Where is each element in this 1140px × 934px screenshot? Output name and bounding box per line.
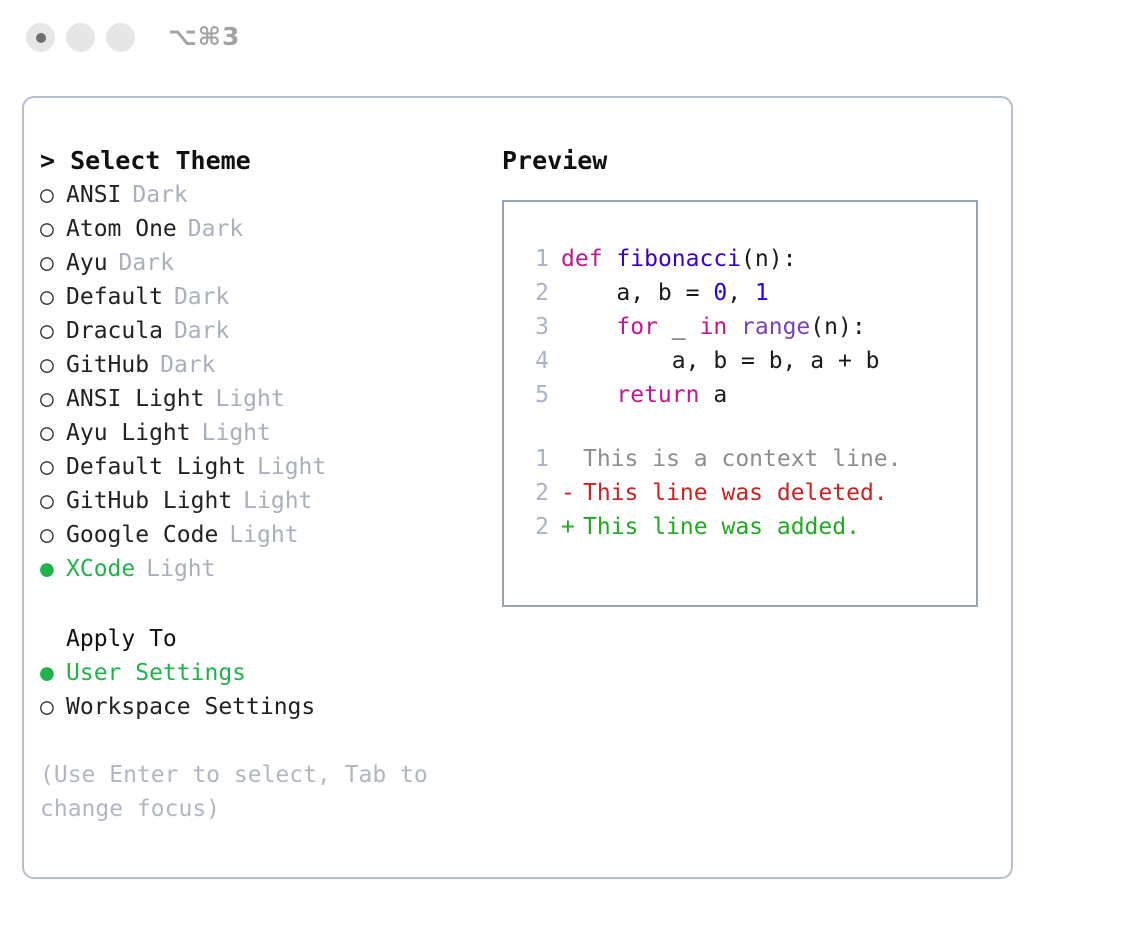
code-token-kw: return — [616, 382, 699, 408]
code-token-plain: (n): — [810, 314, 865, 340]
radio-unselected-icon: ○ — [40, 382, 66, 416]
line-number: 2 — [519, 276, 549, 310]
preview-title: Preview — [502, 144, 992, 178]
diff-line-text: This line was added. — [583, 510, 860, 544]
apply-to-title: Apply To — [40, 622, 480, 656]
theme-option-github[interactable]: ○GitHubDark — [40, 348, 480, 382]
code-token-plain: (n): — [741, 246, 796, 272]
theme-option-label: Google Code — [66, 518, 218, 552]
code-line-text: a, b = b, a + b — [561, 344, 880, 378]
theme-option-label: Default Light — [66, 450, 246, 484]
apply-to-option-workspace-settings[interactable]: ○Workspace Settings — [40, 690, 480, 724]
radio-unselected-icon: ○ — [40, 690, 66, 724]
theme-option-tag: Dark — [160, 348, 215, 382]
theme-option-ayu-light[interactable]: ○Ayu LightLight — [40, 416, 480, 450]
theme-option-label: Default — [66, 280, 163, 314]
line-number: 1 — [519, 442, 549, 476]
app-window: ⌥⌘3 > Select Theme ○ANSIDark○Atom OneDar… — [0, 0, 1140, 934]
code-token-num: 0 — [713, 280, 727, 306]
apply-to-option-label: Workspace Settings — [66, 690, 315, 724]
theme-option-default[interactable]: ○DefaultDark — [40, 280, 480, 314]
theme-option-tag: Light — [202, 416, 271, 450]
code-token-num: 1 — [755, 280, 769, 306]
theme-option-default-light[interactable]: ○Default LightLight — [40, 450, 480, 484]
diff-line: 2+This line was added. — [504, 510, 976, 544]
code-token-kw: for — [616, 314, 658, 340]
code-line-text: return a — [561, 378, 727, 412]
radio-selected-icon: ● — [40, 552, 66, 586]
theme-list: ○ANSIDark○Atom OneDark○AyuDark○DefaultDa… — [40, 178, 480, 586]
code-token-plain: , — [727, 280, 755, 306]
code-token-fn: fibonacci — [616, 246, 741, 272]
theme-selector-column: > Select Theme ○ANSIDark○Atom OneDark○Ay… — [40, 144, 480, 826]
theme-option-atom-one[interactable]: ○Atom OneDark — [40, 212, 480, 246]
select-theme-header: > Select Theme — [40, 144, 480, 178]
line-number: 2 — [519, 510, 549, 544]
diff-line-text: This is a context line. — [583, 442, 902, 476]
line-number: 2 — [519, 476, 549, 510]
keyboard-hint-text: (Use Enter to select, Tab to change focu… — [40, 758, 450, 826]
theme-option-dracula[interactable]: ○DraculaDark — [40, 314, 480, 348]
code-line-text: def fibonacci(n): — [561, 242, 796, 276]
line-number: 4 — [519, 344, 549, 378]
theme-option-google-code[interactable]: ○Google CodeLight — [40, 518, 480, 552]
spacer — [40, 724, 480, 758]
diff-line-text: This line was deleted. — [583, 476, 888, 510]
theme-option-tag: Light — [243, 484, 312, 518]
code-line: 1def fibonacci(n): — [504, 242, 976, 276]
code-token-plain — [561, 382, 616, 408]
radio-unselected-icon: ○ — [40, 246, 66, 280]
code-token-plain: _ — [658, 314, 700, 340]
theme-option-label: ANSI Light — [66, 382, 204, 416]
window-close-icon[interactable] — [26, 23, 55, 52]
code-token-plain — [603, 246, 617, 272]
code-token-kw: in — [699, 314, 727, 340]
title-bar: ⌥⌘3 — [0, 0, 1140, 78]
theme-option-tag: Light — [229, 518, 298, 552]
radio-unselected-icon: ○ — [40, 314, 66, 348]
spacer — [504, 412, 976, 442]
theme-option-label: Ayu — [66, 246, 108, 280]
code-token-builtin: range — [741, 314, 810, 340]
diff-sample: 1 This is a context line.2-This line was… — [504, 442, 976, 544]
traffic-light-group — [26, 23, 135, 52]
theme-option-tag: Dark — [174, 280, 229, 314]
diff-marker-add: + — [561, 510, 583, 544]
theme-option-xcode[interactable]: ●XCodeLight — [40, 552, 480, 586]
theme-option-tag: Light — [257, 450, 326, 484]
theme-option-label: Dracula — [66, 314, 163, 348]
code-token-kw: def — [561, 246, 603, 272]
code-line-text: for _ in range(n): — [561, 310, 866, 344]
radio-unselected-icon: ○ — [40, 450, 66, 484]
code-token-plain — [727, 314, 741, 340]
code-token-plain — [561, 314, 616, 340]
code-token-plain: a — [699, 382, 727, 408]
theme-option-label: Atom One — [66, 212, 177, 246]
code-line-text: a, b = 0, 1 — [561, 276, 769, 310]
theme-option-ayu[interactable]: ○AyuDark — [40, 246, 480, 280]
diff-line: 2-This line was deleted. — [504, 476, 976, 510]
theme-option-tag: Dark — [119, 246, 174, 280]
theme-option-tag: Dark — [174, 314, 229, 348]
radio-selected-icon: ● — [40, 656, 66, 690]
theme-option-tag: Dark — [188, 212, 243, 246]
line-number: 3 — [519, 310, 549, 344]
keyboard-shortcut-label: ⌥⌘3 — [168, 22, 240, 51]
theme-option-label: GitHub Light — [66, 484, 232, 518]
theme-option-label: XCode — [66, 552, 135, 586]
main-panel: > Select Theme ○ANSIDark○Atom OneDark○Ay… — [22, 96, 1013, 879]
radio-unselected-icon: ○ — [40, 416, 66, 450]
radio-unselected-icon: ○ — [40, 484, 66, 518]
radio-unselected-icon: ○ — [40, 518, 66, 552]
code-line: 3 for _ in range(n): — [504, 310, 976, 344]
window-maximize-icon[interactable] — [106, 23, 135, 52]
code-sample: 1def fibonacci(n):2 a, b = 0, 13 for _ i… — [504, 242, 976, 412]
line-number: 5 — [519, 378, 549, 412]
code-token-plain: a, b = b, a + b — [561, 348, 880, 374]
code-token-plain: a, b = — [561, 280, 713, 306]
theme-option-ansi[interactable]: ○ANSIDark — [40, 178, 480, 212]
preview-column: Preview 1def fibonacci(n):2 a, b = 0, 13… — [502, 144, 992, 607]
theme-option-label: Ayu Light — [66, 416, 191, 450]
diff-marker-ctx — [561, 442, 583, 476]
code-line: 2 a, b = 0, 1 — [504, 276, 976, 310]
radio-unselected-icon: ○ — [40, 348, 66, 382]
code-line: 4 a, b = b, a + b — [504, 344, 976, 378]
theme-option-tag: Light — [146, 552, 215, 586]
theme-option-tag: Dark — [132, 178, 187, 212]
radio-unselected-icon: ○ — [40, 212, 66, 246]
code-line: 5 return a — [504, 378, 976, 412]
theme-option-label: GitHub — [66, 348, 149, 382]
apply-to-option-user-settings[interactable]: ●User Settings — [40, 656, 480, 690]
theme-option-github-light[interactable]: ○GitHub LightLight — [40, 484, 480, 518]
apply-to-option-label: User Settings — [66, 656, 246, 690]
diff-marker-del: - — [561, 476, 583, 510]
radio-unselected-icon: ○ — [40, 280, 66, 314]
line-number: 1 — [519, 242, 549, 276]
window-minimize-icon[interactable] — [66, 23, 95, 52]
apply-to-list: ●User Settings○Workspace Settings — [40, 656, 480, 724]
spacer — [40, 586, 480, 622]
preview-box: 1def fibonacci(n):2 a, b = 0, 13 for _ i… — [502, 200, 978, 607]
theme-option-label: ANSI — [66, 178, 121, 212]
theme-option-ansi-light[interactable]: ○ANSI LightLight — [40, 382, 480, 416]
radio-unselected-icon: ○ — [40, 178, 66, 212]
theme-option-tag: Light — [215, 382, 284, 416]
diff-line: 1 This is a context line. — [504, 442, 976, 476]
